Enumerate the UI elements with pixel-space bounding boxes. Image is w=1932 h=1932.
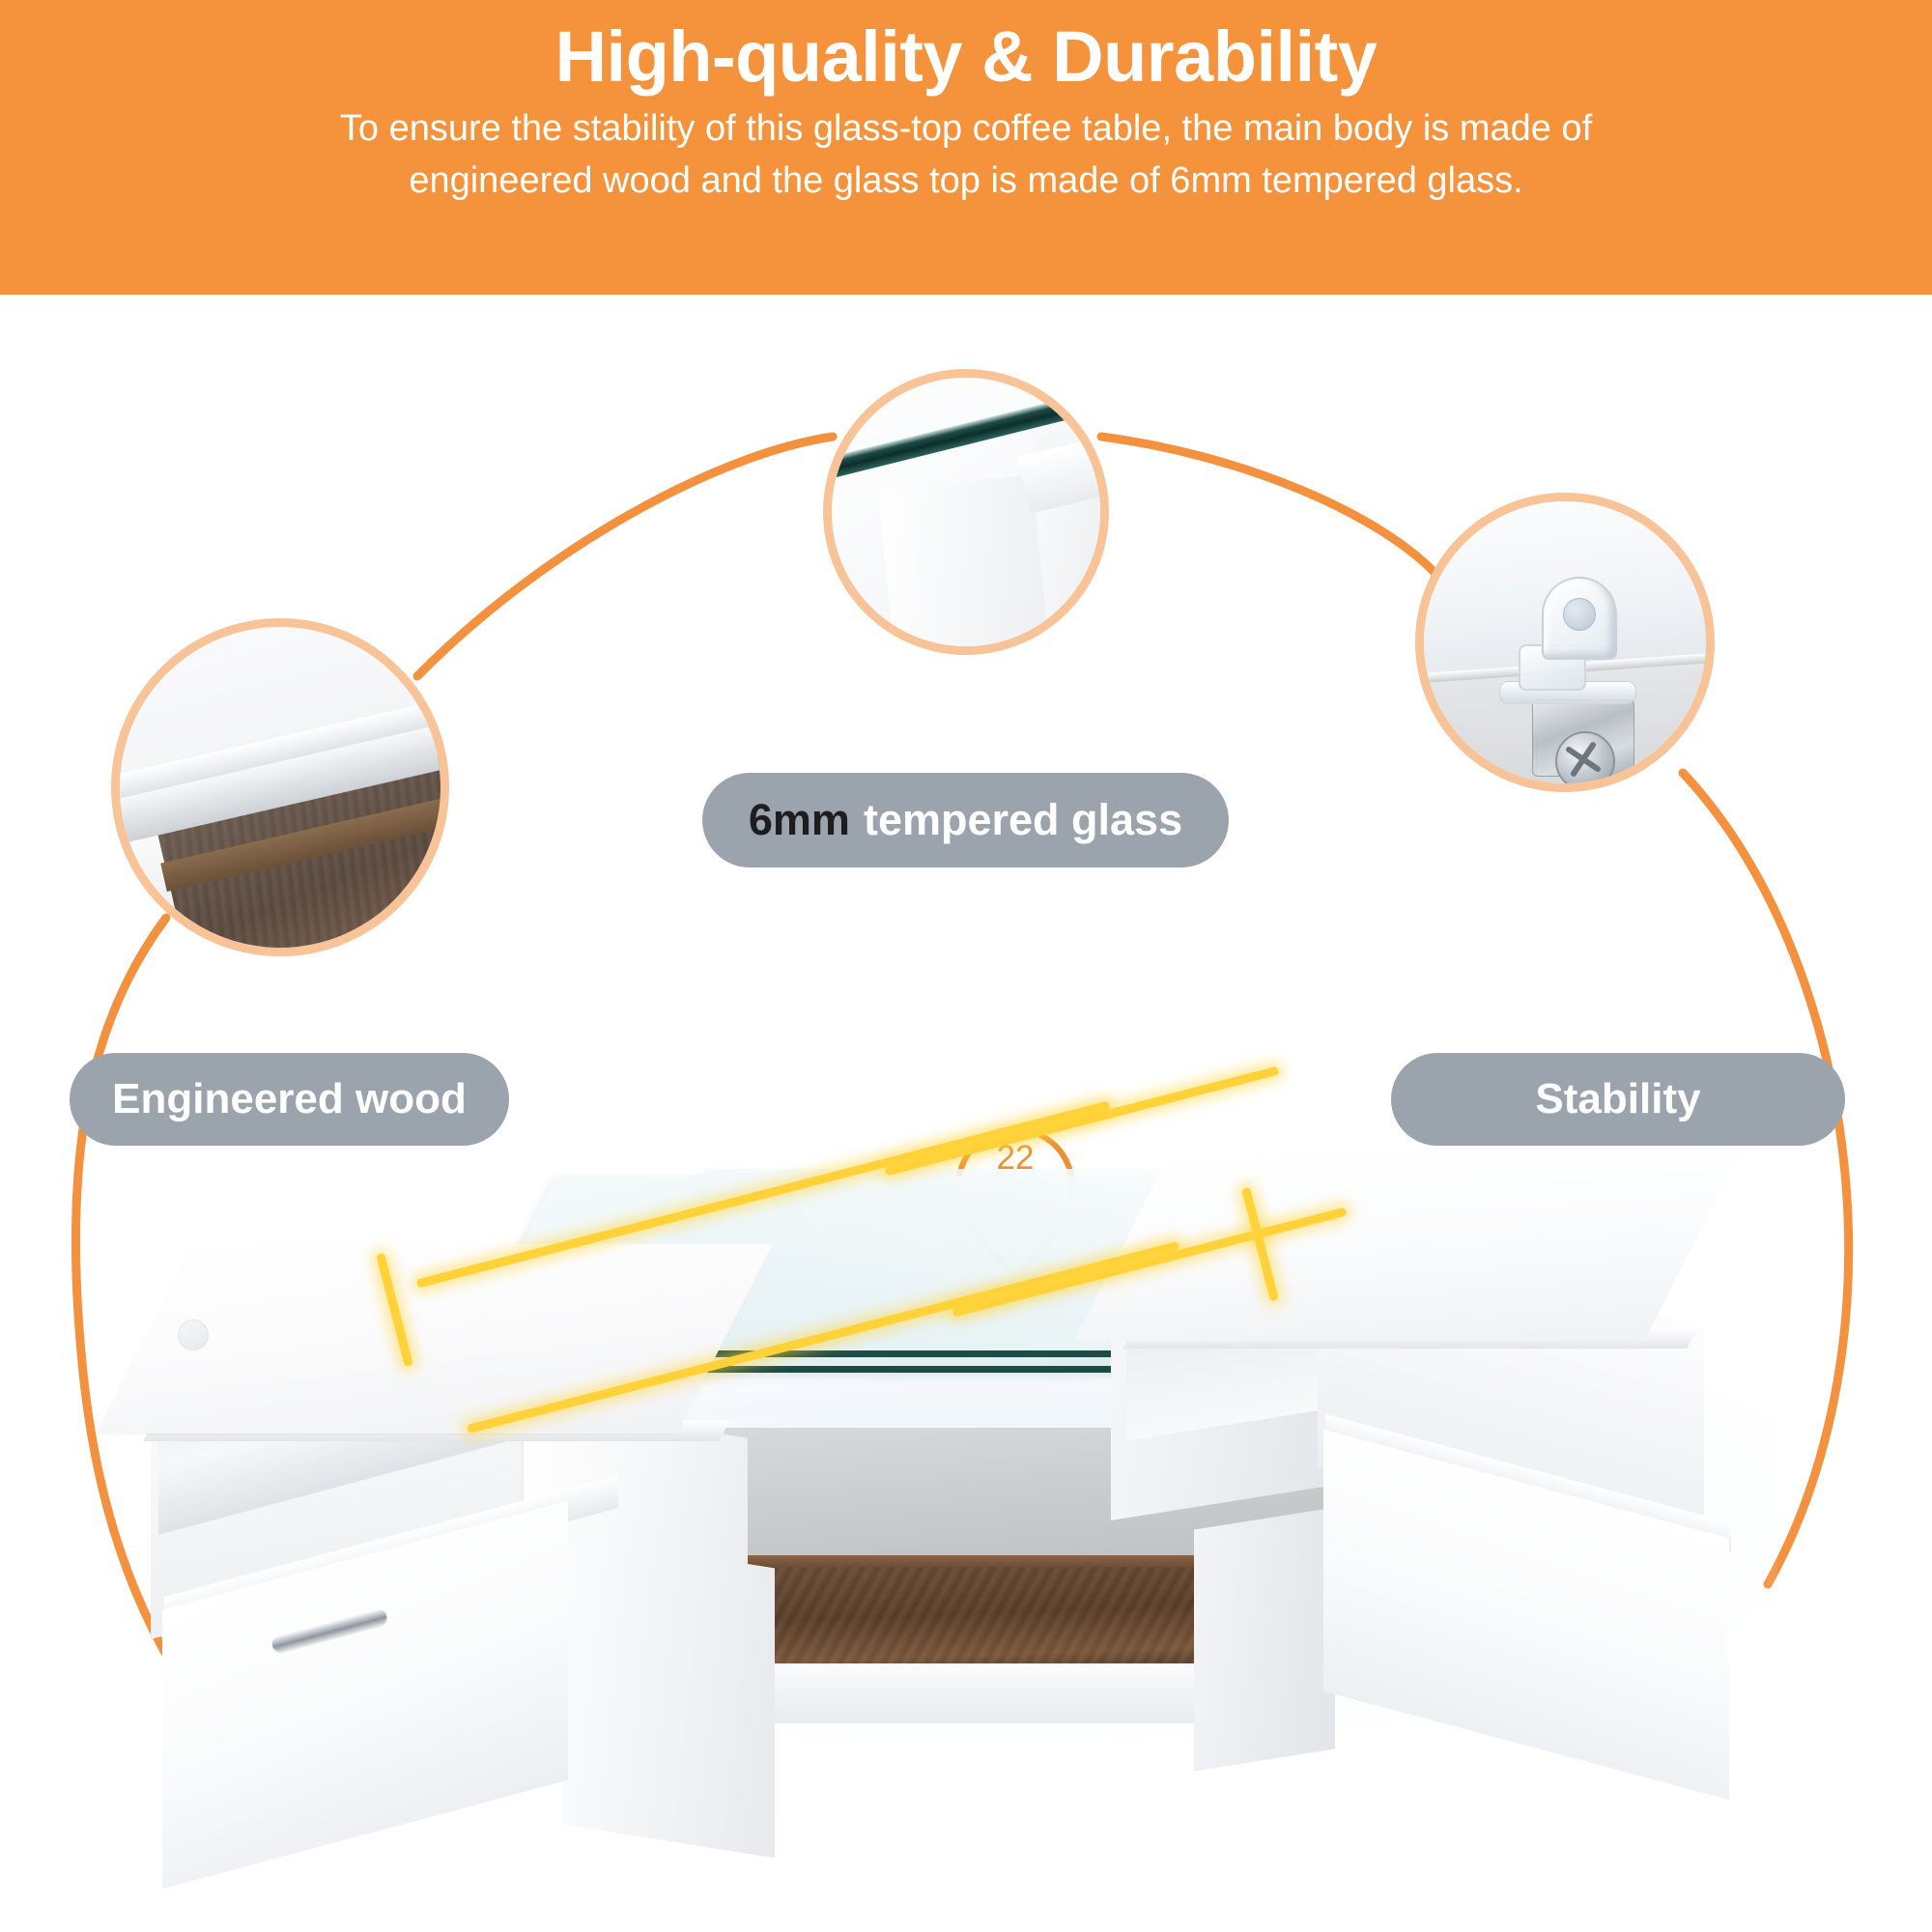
product-photo-coffee-table <box>116 1130 1855 1893</box>
label-text-stability: Stability <box>1535 1075 1700 1123</box>
connector-wood-to-glass <box>417 437 833 676</box>
header-subtitle-line2: engineered wood and the glass top is mad… <box>116 156 1816 208</box>
engineered-wood-photo <box>120 627 440 948</box>
header-banner: High-quality & Durability To ensure the … <box>0 0 1932 295</box>
page-title: High-quality & Durability <box>555 17 1378 98</box>
left-pedestal-knob <box>178 1320 209 1350</box>
connector-glass-to-stability <box>1101 437 1441 580</box>
label-text-tempered-glass: tempered glass <box>864 795 1182 845</box>
header-subtitle: To ensure the stability of this glass-to… <box>116 103 1816 208</box>
tempered-glass-photo <box>832 378 1100 646</box>
callout-circle-stability <box>1415 493 1715 792</box>
right-drawer-side <box>1194 1507 1335 1771</box>
callout-circle-tempered-glass <box>823 369 1109 655</box>
infographic-page: High-quality & Durability To ensure the … <box>0 0 1932 1932</box>
label-pill-tempered-glass: 6mm tempered glass <box>702 773 1229 867</box>
label-text-engineered-wood: Engineered wood <box>112 1075 467 1123</box>
stability-hardware-photo <box>1424 501 1706 783</box>
label-prefix-6mm: 6mm <box>749 795 850 845</box>
header-subtitle-line1: To ensure the stability of this glass-to… <box>116 103 1816 156</box>
left-drawer-side <box>562 1535 775 1859</box>
callout-circle-engineered-wood <box>111 618 449 956</box>
